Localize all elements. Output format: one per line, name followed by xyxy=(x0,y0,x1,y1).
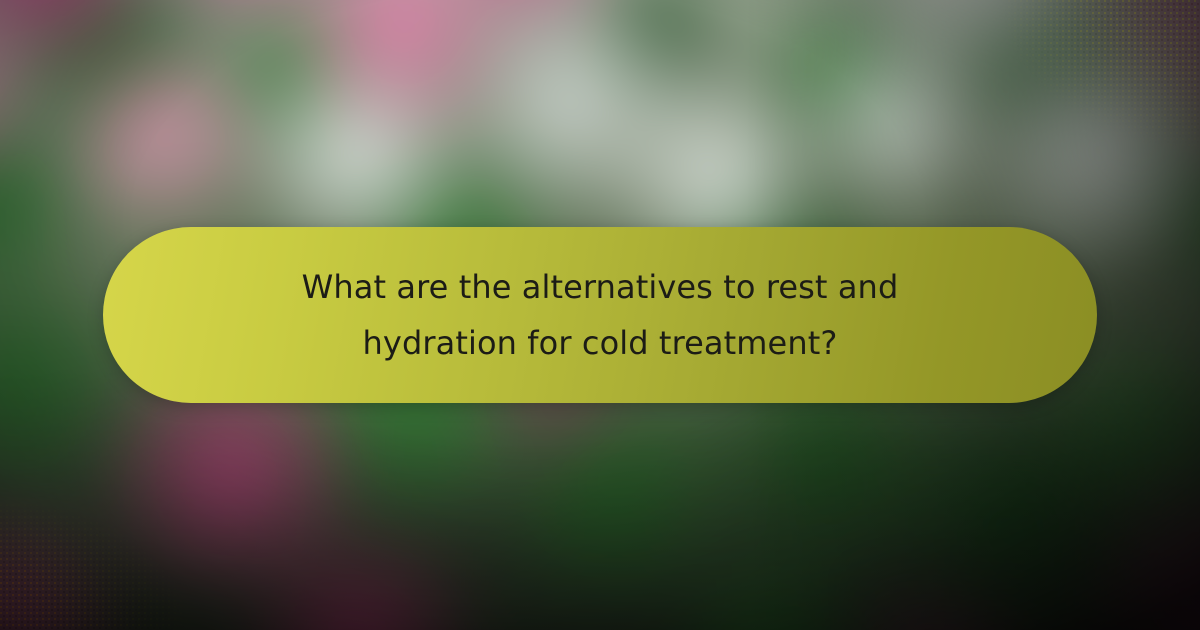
question-pill-card: What are the alternatives to rest and hy… xyxy=(103,227,1097,403)
screenshot-canvas: What are the alternatives to rest and hy… xyxy=(0,0,1200,630)
question-text: What are the alternatives to rest and hy… xyxy=(250,259,950,371)
